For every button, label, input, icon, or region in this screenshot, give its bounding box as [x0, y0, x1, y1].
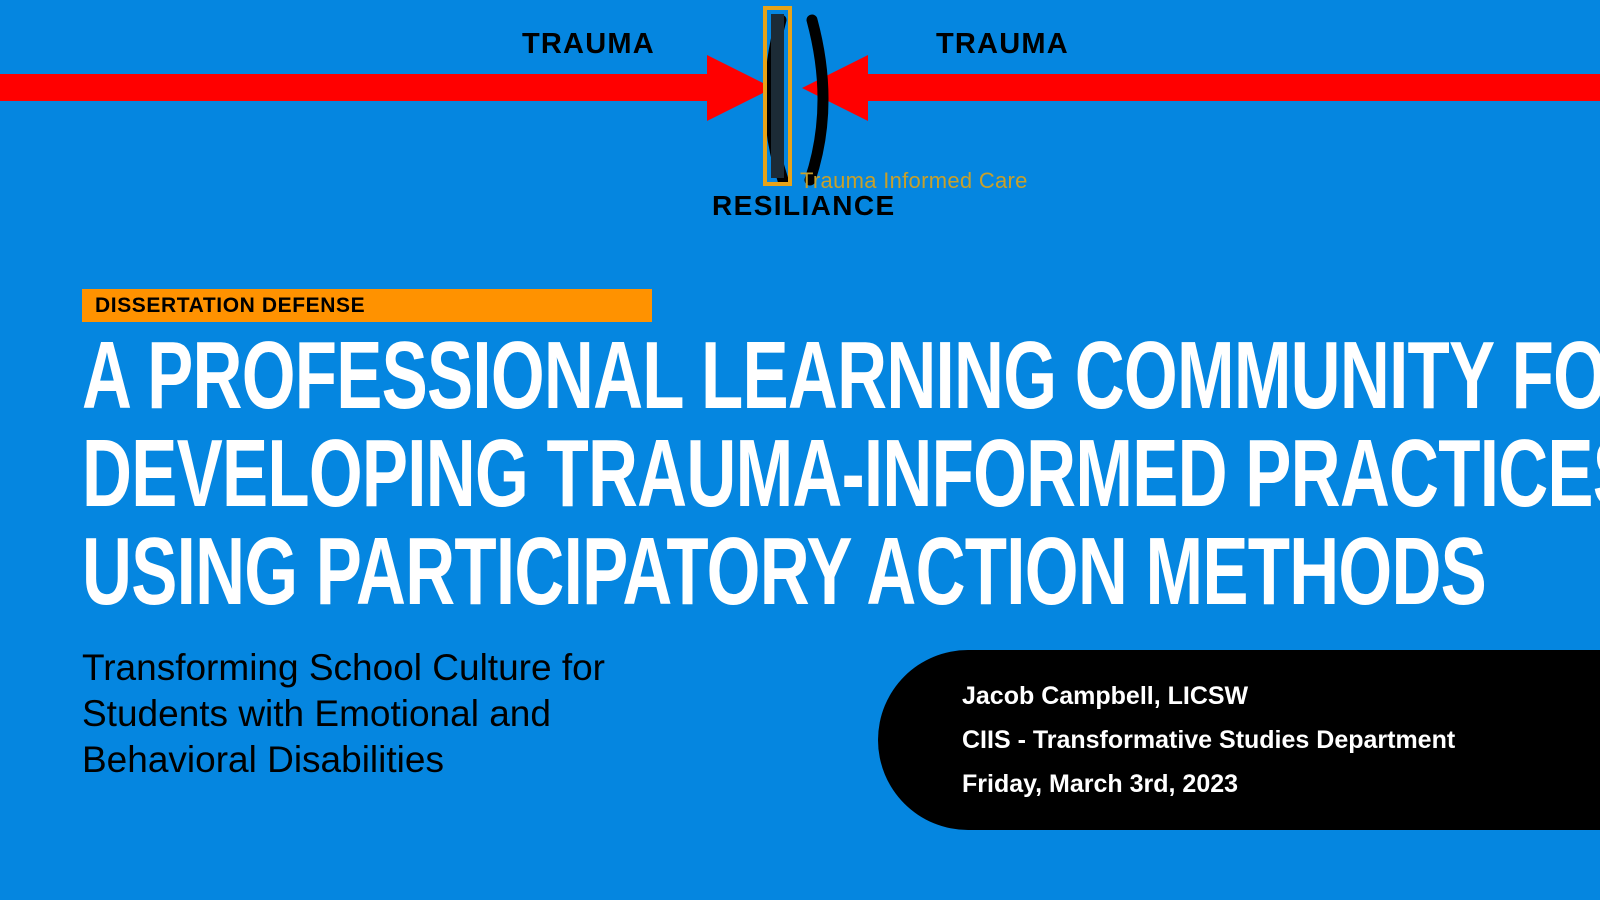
dissertation-defense-badge: DISSERTATION DEFENSE [82, 289, 652, 322]
slide-subtitle: Transforming School Culture for Students… [82, 645, 742, 783]
left-trauma-arrow-icon [0, 55, 773, 121]
author-affiliation: CIIS - Transformative Studies Department [878, 718, 1600, 762]
author-info-panel: Jacob Campbell, LICSW CIIS - Transformat… [878, 650, 1600, 830]
title-line-1: A PROFESSIONAL LEARNING COMMUNITY FOR [82, 328, 989, 424]
subtitle-line-1: Transforming School Culture for [82, 645, 742, 691]
badge-label: DISSERTATION DEFENSE [82, 294, 365, 318]
subtitle-line-3: Behavioral Disabilities [82, 737, 742, 783]
title-line-2: DEVELOPING TRAUMA-INFORMED PRACTICES [82, 426, 989, 522]
trauma-label-right: TRAUMA [936, 28, 1069, 61]
right-resilience-arc-icon [810, 20, 823, 180]
trauma-label-left: TRAUMA [522, 28, 655, 61]
subtitle-line-2: Students with Emotional and [82, 691, 742, 737]
title-line-3: USING PARTICIPATORY ACTION METHODS [82, 524, 989, 620]
slide-title: A PROFESSIONAL LEARNING COMMUNITY FOR DE… [82, 328, 1342, 622]
author-name: Jacob Campbell, LICSW [878, 674, 1600, 718]
resiliance-label: RESILIANCE [712, 190, 896, 222]
right-trauma-arrow-icon [802, 55, 1600, 121]
presentation-date: Friday, March 3rd, 2023 [878, 762, 1600, 806]
trauma-resilience-banner: TRAUMA TRAUMA Trauma Informed Care RESIL… [0, 0, 1600, 230]
presentation-slide: TRAUMA TRAUMA Trauma Informed Care RESIL… [0, 0, 1600, 900]
